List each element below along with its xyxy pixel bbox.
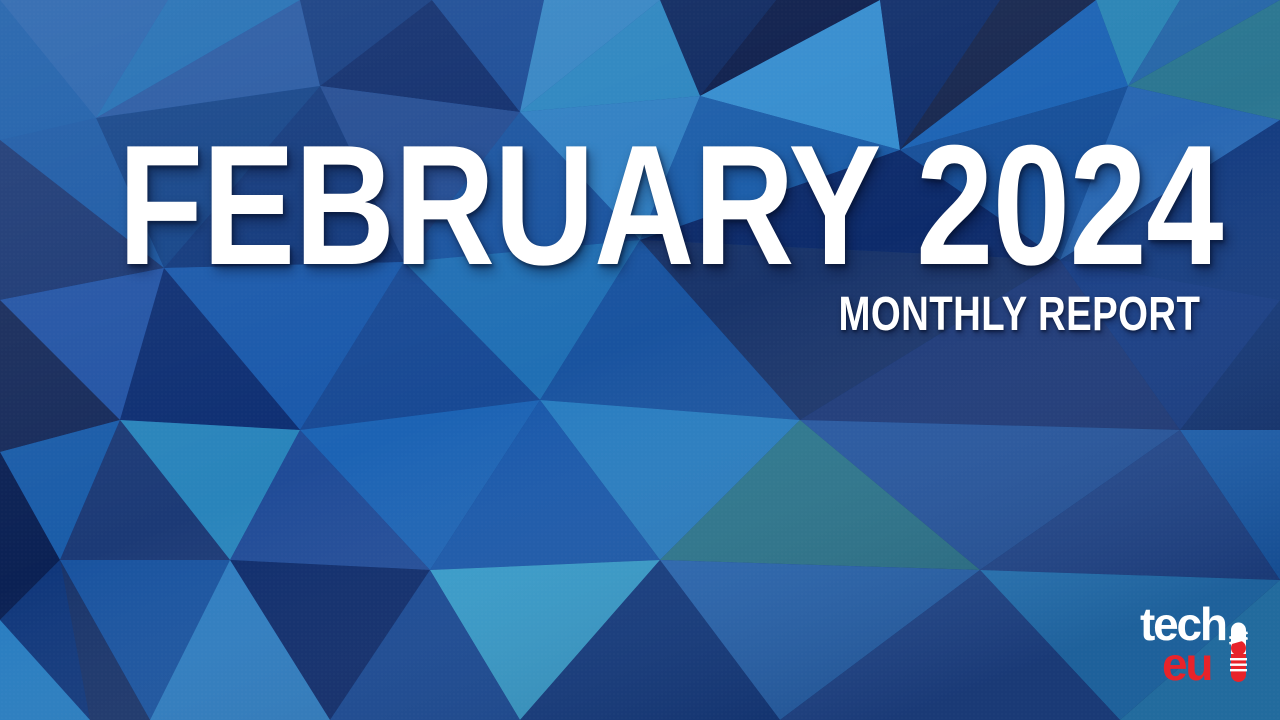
low-poly-background xyxy=(0,0,1280,720)
tech-eu-logo-icon: tech eu xyxy=(1138,596,1254,688)
logo-column-mark xyxy=(1229,623,1248,683)
headline-block: FEBRUARY 2024 MONTHLY REPORT xyxy=(118,126,1202,339)
page-subtitle: MONTHLY REPORT xyxy=(838,291,1200,339)
report-cover-poster: FEBRUARY 2024 MONTHLY REPORT tech eu xyxy=(0,0,1280,720)
svg-text:eu: eu xyxy=(1162,638,1211,688)
tech-eu-logo[interactable]: tech eu xyxy=(1138,596,1254,688)
page-title: FEBRUARY 2024 xyxy=(118,126,1001,285)
